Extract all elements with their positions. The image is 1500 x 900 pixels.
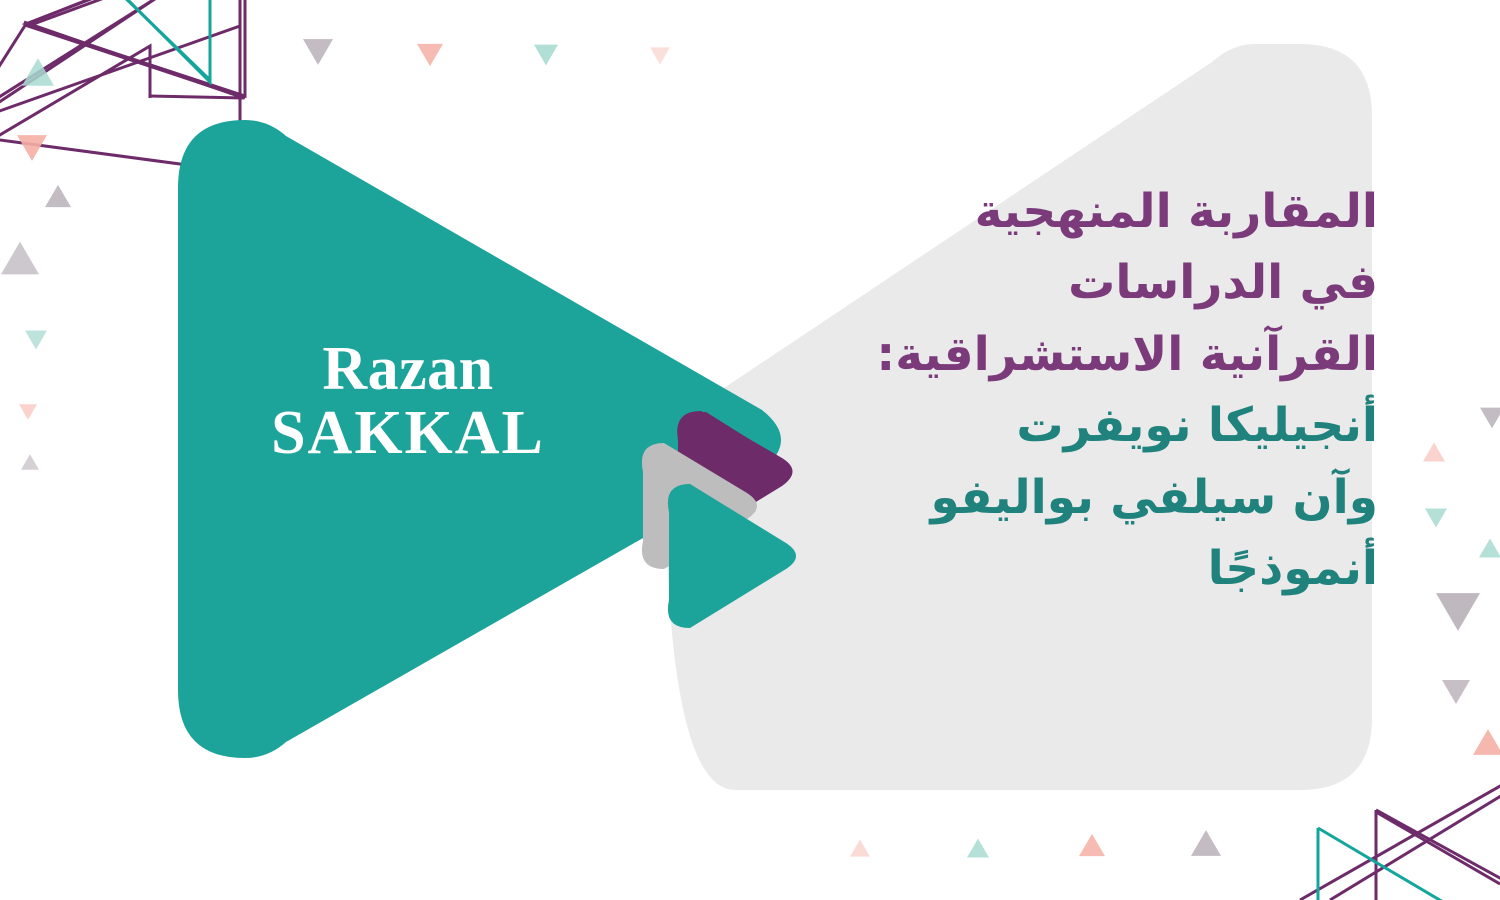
small-triangle-7 xyxy=(303,39,333,65)
small-triangle-14 xyxy=(1479,539,1500,558)
small-triangle-10 xyxy=(650,47,670,64)
small-triangle-4 xyxy=(25,331,47,350)
small-triangle-11 xyxy=(1480,408,1500,429)
small-triangle-16 xyxy=(1442,680,1470,704)
small-triangle-0 xyxy=(22,58,54,86)
small-triangle-19 xyxy=(967,839,989,858)
slide-canvas: Razan SAKKAL المقاربة المنهجية في الدراس… xyxy=(0,0,1500,900)
small-triangle-9 xyxy=(534,45,558,66)
small-triangle-17 xyxy=(1473,729,1500,755)
small-triangle-1 xyxy=(17,135,47,161)
small-triangle-8 xyxy=(417,44,443,66)
small-triangle-3 xyxy=(1,242,39,275)
small-triangle-21 xyxy=(1191,830,1221,856)
small-triangles-decoration xyxy=(0,0,1500,900)
small-triangle-2 xyxy=(45,185,71,207)
small-triangle-18 xyxy=(850,839,870,856)
small-triangle-20 xyxy=(1079,834,1105,856)
small-triangle-5 xyxy=(19,404,37,419)
small-triangle-15 xyxy=(1436,593,1480,631)
small-triangle-12 xyxy=(1423,443,1445,462)
small-triangle-13 xyxy=(1425,509,1447,528)
small-triangle-6 xyxy=(21,454,39,469)
